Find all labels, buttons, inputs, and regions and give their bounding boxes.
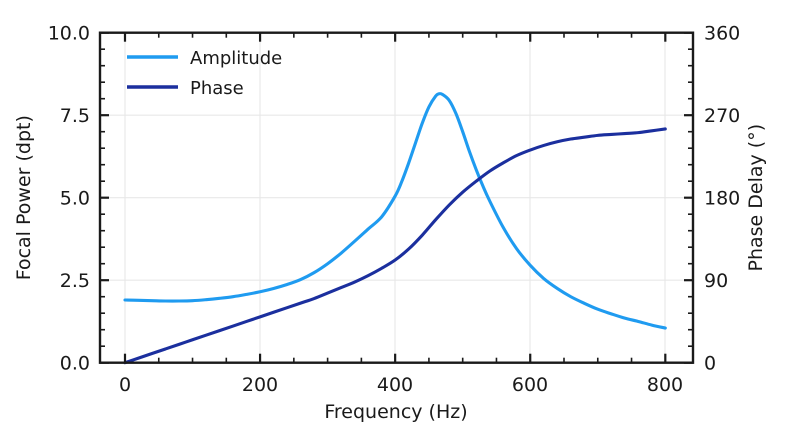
y-right-tick-labels: 0 90 180 270 360 <box>704 23 740 375</box>
y-tick-label-0p0: 0.0 <box>60 353 90 375</box>
x-tick-label-200: 200 <box>242 374 278 396</box>
x-tick-label-400: 400 <box>377 374 413 396</box>
y2-tick-label-270: 270 <box>704 105 740 127</box>
x-tick-label-0: 0 <box>119 374 131 396</box>
y-tick-label-5p0: 5.0 <box>60 188 90 210</box>
chart-figure: 0 200 400 600 800 0.0 2.5 5.0 7.5 10.0 0… <box>0 0 785 431</box>
legend-label-phase: Phase <box>190 78 244 99</box>
y-left-axis-title: Focal Power (dpt) <box>13 115 35 280</box>
x-tick-label-800: 800 <box>647 374 683 396</box>
x-tick-label-600: 600 <box>512 374 548 396</box>
y2-tick-label-360: 360 <box>704 23 740 45</box>
y-right-axis-title: Phase Delay (°) <box>745 124 767 272</box>
y-tick-label-2p5: 2.5 <box>60 270 90 292</box>
legend-item-amplitude[interactable]: Amplitude <box>127 48 282 69</box>
y2-tick-label-0: 0 <box>704 353 716 375</box>
y-tick-label-7p5: 7.5 <box>60 105 90 127</box>
y-left-tick-labels: 0.0 2.5 5.0 7.5 10.0 <box>48 23 90 375</box>
y2-tick-label-90: 90 <box>704 270 728 292</box>
legend-label-amplitude: Amplitude <box>190 48 282 69</box>
y2-tick-label-180: 180 <box>704 188 740 210</box>
chart-legend: Amplitude Phase <box>127 48 282 99</box>
y-tick-label-10p0: 10.0 <box>48 23 90 45</box>
gridlines <box>100 33 693 363</box>
legend-item-phase[interactable]: Phase <box>127 78 244 99</box>
line-chart-canvas: 0 200 400 600 800 0.0 2.5 5.0 7.5 10.0 0… <box>0 0 785 431</box>
x-tick-labels: 0 200 400 600 800 <box>119 374 683 396</box>
x-axis-title: Frequency (Hz) <box>324 401 467 423</box>
